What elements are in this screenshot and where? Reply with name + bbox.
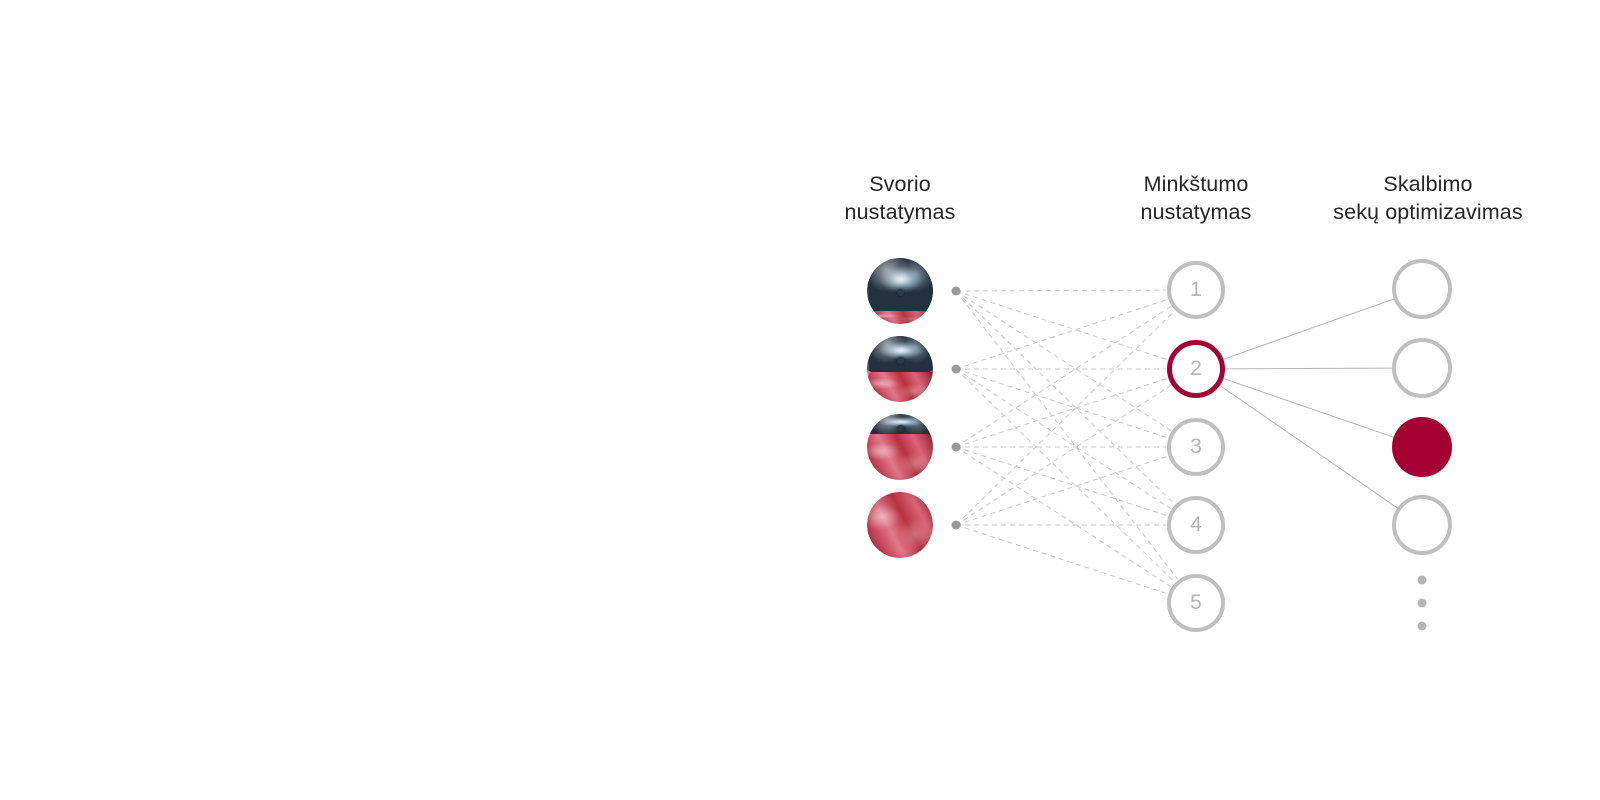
- column-title-weight-line1: Svorio: [845, 170, 956, 198]
- dashed-edge-in3-h1: [956, 306, 1171, 447]
- input-connector-dot-2: [952, 365, 961, 374]
- photo-vignette: [867, 258, 933, 324]
- solid-edge-h2-out2: [1225, 368, 1392, 369]
- output-node-2[interactable]: [1392, 338, 1452, 398]
- column-title-cycle: Skalbimo sekų optimizavimas: [1333, 170, 1522, 226]
- hidden-node-3[interactable]: 3: [1167, 418, 1225, 476]
- washer-drum-icon: [867, 336, 933, 402]
- dashed-edge-group: [956, 290, 1178, 594]
- dashed-edge-in4-h2: [956, 385, 1171, 525]
- dashed-edge-in1-h3: [956, 291, 1171, 431]
- dashed-edge-in2-h3: [956, 369, 1167, 438]
- dashed-edge-in2-h4: [956, 369, 1171, 509]
- dashed-edge-in2-h5: [956, 369, 1175, 582]
- solid-edge-h2-out4: [1220, 385, 1397, 507]
- dashed-edge-in1-h2: [956, 291, 1167, 360]
- hidden-node-4[interactable]: 4: [1167, 496, 1225, 554]
- dashed-edge-in1-h5: [956, 291, 1178, 579]
- washer-drum-icon: [867, 492, 933, 558]
- ellipsis-dot-1: [1418, 576, 1427, 585]
- output-node-3-selected[interactable]: [1392, 417, 1452, 477]
- solid-edge-h2-out3: [1223, 378, 1393, 437]
- input-connector-dot-1: [952, 287, 961, 296]
- photo-vignette: [867, 492, 933, 558]
- column-title-softness-line2: nustatymas: [1141, 198, 1252, 226]
- washer-drum-icon: [867, 258, 933, 324]
- photo-vignette: [867, 414, 933, 480]
- input-connector-dot-3: [952, 443, 961, 452]
- dashed-edge-in1-h4: [956, 291, 1175, 504]
- column-title-weight-line2: nustatymas: [845, 198, 956, 226]
- ellipsis-dot-3: [1418, 622, 1427, 631]
- dashed-edge-in4-h5: [956, 525, 1167, 594]
- edge-layer: [0, 0, 1600, 800]
- column-title-cycle-line2: sekų optimizavimas: [1333, 198, 1522, 226]
- input-node-drum-empty[interactable]: [867, 258, 933, 324]
- photo-vignette: [867, 336, 933, 402]
- washer-drum-icon: [867, 414, 933, 480]
- output-node-4[interactable]: [1392, 495, 1452, 555]
- dashed-edge-in3-h5: [956, 447, 1171, 587]
- hidden-node-5[interactable]: 5: [1167, 574, 1225, 632]
- column-title-softness-line1: Minkštumo: [1141, 170, 1252, 198]
- dashed-edge-in2-h1: [956, 299, 1168, 369]
- input-node-drum-medium-load[interactable]: [867, 414, 933, 480]
- dashed-edge-in3-h2: [956, 378, 1167, 447]
- solid-edge-group: [1220, 299, 1397, 508]
- dashed-edge-in3-h4: [956, 447, 1167, 516]
- solid-edge-h2-out1: [1223, 299, 1393, 359]
- column-title-softness: Minkštumo nustatymas: [1141, 170, 1252, 226]
- input-node-drum-full-load[interactable]: [867, 492, 933, 558]
- dashed-edge-in1-h1: [956, 290, 1166, 291]
- output-node-1[interactable]: [1392, 259, 1452, 319]
- column-title-cycle-line1: Skalbimo: [1333, 170, 1522, 198]
- neural-network-diagram: Svorio nustatymas Minkštumo nustatymas S…: [0, 0, 1600, 800]
- input-connector-dot-4: [952, 521, 961, 530]
- hidden-node-2[interactable]: 2: [1167, 340, 1225, 398]
- ellipsis-dot-2: [1418, 599, 1427, 608]
- column-title-weight: Svorio nustatymas: [845, 170, 956, 226]
- dashed-edge-in4-h1: [956, 311, 1175, 525]
- hidden-node-1[interactable]: 1: [1167, 261, 1225, 319]
- input-node-drum-light-load[interactable]: [867, 336, 933, 402]
- dashed-edge-in4-h3: [956, 456, 1167, 525]
